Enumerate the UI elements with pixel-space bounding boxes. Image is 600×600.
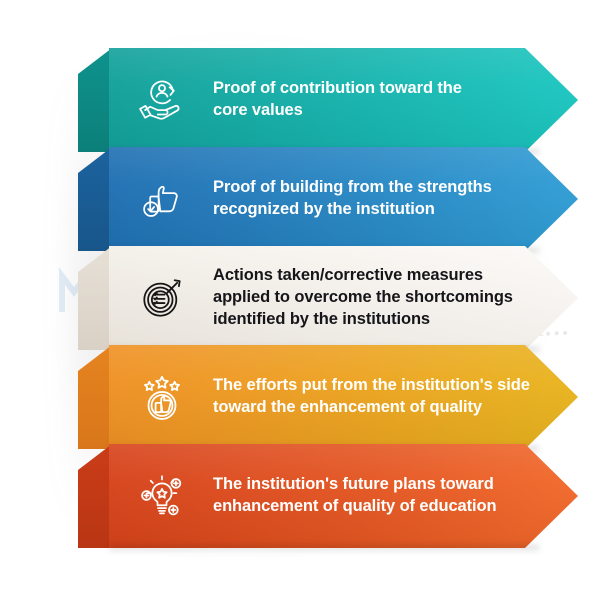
band-1-side-face	[78, 48, 112, 152]
band-5-line-1: The institution's future plans toward	[213, 474, 522, 496]
chevron-band-5[interactable]: The institution's future plans toward en…	[78, 444, 578, 548]
band-4-line-1: The efforts put from the institution's s…	[213, 375, 522, 397]
thumbs-up-badge-stars-icon	[133, 368, 191, 426]
band-2-side-face	[78, 147, 112, 251]
band-1-front-face: Proof of contribution toward the core va…	[109, 48, 578, 152]
infographic-canvas: Mastersoft accelerating education... Pro…	[0, 0, 600, 600]
band-2-front-face: Proof of building from the strengths rec…	[109, 147, 578, 251]
band-3-side-face	[78, 246, 112, 350]
chevron-band-1[interactable]: Proof of contribution toward the core va…	[78, 48, 578, 152]
band-5-line-2: enhancement of quality of education	[213, 496, 522, 518]
band-1-line-1: Proof of contribution toward the	[213, 78, 522, 100]
band-3-line-3: identified by the institutions	[213, 309, 522, 331]
band-5-text: The institution's future plans toward en…	[213, 474, 522, 518]
chevron-band-2[interactable]: Proof of building from the strengths rec…	[78, 147, 578, 251]
band-1-line-2: core values	[213, 100, 522, 122]
band-3-line-1: Actions taken/corrective measures	[213, 265, 522, 287]
thumbs-up-check-icon	[133, 170, 191, 228]
hand-holding-person-cycle-icon	[133, 71, 191, 129]
lightbulb-star-ideas-icon	[133, 467, 191, 525]
target-checklist-dart-icon	[133, 269, 191, 327]
band-4-line-2: toward the enhancement of quality	[213, 397, 522, 419]
band-4-front-face: The efforts put from the institution's s…	[109, 345, 578, 449]
band-4-text: The efforts put from the institution's s…	[213, 375, 522, 419]
band-1-text: Proof of contribution toward the core va…	[213, 78, 522, 122]
band-2-line-1: Proof of building from the strengths	[213, 177, 522, 199]
band-3-text: Actions taken/corrective measures applie…	[213, 265, 522, 331]
band-2-text: Proof of building from the strengths rec…	[213, 177, 522, 221]
chevron-band-4[interactable]: The efforts put from the institution's s…	[78, 345, 578, 449]
band-5-front-face: The institution's future plans toward en…	[109, 444, 578, 548]
band-4-side-face	[78, 345, 112, 449]
band-3-front-face: Actions taken/corrective measures applie…	[109, 246, 578, 350]
band-2-line-2: recognized by the institution	[213, 199, 522, 221]
band-3-line-2: applied to overcome the shortcomings	[213, 287, 522, 309]
chevron-band-3[interactable]: Actions taken/corrective measures applie…	[78, 246, 578, 350]
band-5-side-face	[78, 444, 112, 548]
